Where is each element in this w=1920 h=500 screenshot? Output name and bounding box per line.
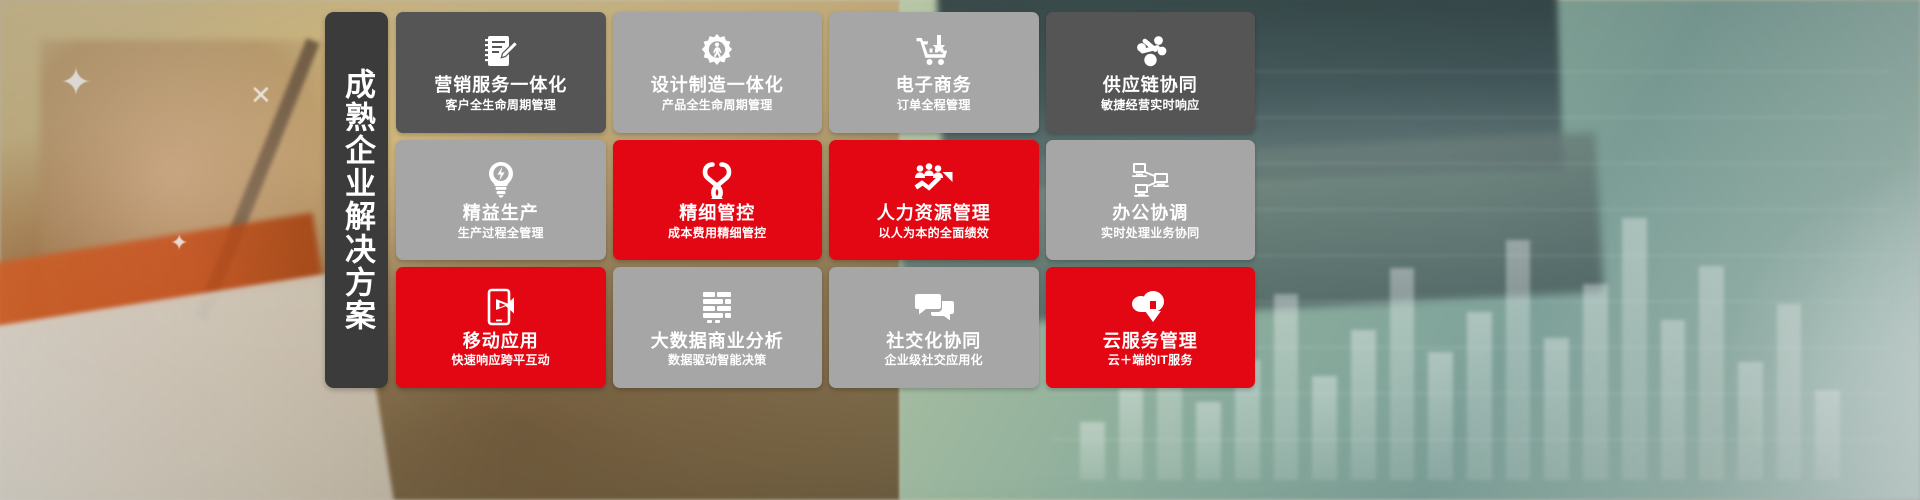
card-title: 办公协调 bbox=[1112, 204, 1188, 224]
card-title: 人力资源管理 bbox=[877, 204, 991, 224]
shopping-cart-download-icon bbox=[915, 30, 953, 72]
card-subtitle: 订单全程管理 bbox=[897, 99, 971, 112]
card-fine-control[interactable]: 精细管控成本费用精细管控 bbox=[613, 140, 823, 261]
card-big-data-business-analytics[interactable]: 大数据商业分析数据驱动智能决策 bbox=[613, 267, 823, 388]
card-subtitle: 以人为本的全面绩效 bbox=[878, 227, 989, 240]
card-title: 营销服务一体化 bbox=[434, 76, 567, 96]
page-title: 成熟企业解决方案 bbox=[338, 68, 375, 332]
chain-link-icon bbox=[700, 158, 734, 200]
card-title: 云服务管理 bbox=[1103, 332, 1198, 352]
chat-bubbles-icon bbox=[914, 286, 954, 328]
people-growth-arrow-icon bbox=[913, 158, 955, 200]
card-subtitle: 成本费用精细管控 bbox=[668, 227, 766, 240]
network-nodes-icon bbox=[1131, 30, 1169, 72]
card-subtitle: 客户全生命周期管理 bbox=[445, 99, 556, 112]
card-title: 大数据商业分析 bbox=[651, 332, 784, 352]
card-lean-production[interactable]: 精益生产生产过程全管理 bbox=[396, 140, 606, 261]
card-subtitle: 快速响应跨平互动 bbox=[452, 354, 550, 367]
gear-person-icon bbox=[699, 30, 735, 72]
card-mobile-application[interactable]: 移动应用快速响应跨平互动 bbox=[396, 267, 606, 388]
card-subtitle: 生产过程全管理 bbox=[458, 227, 544, 240]
card-title: 设计制造一体化 bbox=[651, 76, 784, 96]
card-title: 移动应用 bbox=[463, 332, 539, 352]
card-supply-chain-collaboration[interactable]: 供应链协同敏捷经营实时响应 bbox=[1046, 12, 1256, 133]
server-database-icon bbox=[701, 286, 733, 328]
card-design-manufacturing-integration[interactable]: 设计制造一体化产品全生命周期管理 bbox=[613, 12, 823, 133]
card-title: 精益生产 bbox=[463, 204, 539, 224]
cloud-download-icon bbox=[1131, 286, 1169, 328]
card-subtitle: 企业级社交应用化 bbox=[885, 354, 983, 367]
card-title: 电子商务 bbox=[896, 76, 972, 96]
card-social-collaboration[interactable]: 社交化协同企业级社交应用化 bbox=[829, 267, 1039, 388]
solution-panel: 成熟企业解决方案 营销服务一体化客户全生命周期管理设计制造一体化产品全生命周期管… bbox=[325, 12, 1255, 388]
card-marketing-service-integration[interactable]: 营销服务一体化客户全生命周期管理 bbox=[396, 12, 606, 133]
card-subtitle: 云＋端的IT服务 bbox=[1108, 354, 1193, 367]
networked-computers-icon bbox=[1130, 158, 1170, 200]
lightbulb-bolt-icon bbox=[484, 158, 518, 200]
solution-card-grid: 营销服务一体化客户全生命周期管理设计制造一体化产品全生命周期管理电子商务订单全程… bbox=[396, 12, 1255, 388]
card-title: 精细管控 bbox=[679, 204, 755, 224]
card-cloud-service-management[interactable]: 云服务管理云＋端的IT服务 bbox=[1046, 267, 1256, 388]
vertical-title-block: 成熟企业解决方案 bbox=[325, 12, 388, 388]
card-subtitle: 产品全生命周期管理 bbox=[662, 99, 773, 112]
card-ecommerce[interactable]: 电子商务订单全程管理 bbox=[829, 12, 1039, 133]
card-subtitle: 数据驱动智能决策 bbox=[668, 354, 766, 367]
card-office-coordination[interactable]: 办公协调实时处理业务协同 bbox=[1046, 140, 1256, 261]
card-title: 社交化协同 bbox=[886, 332, 981, 352]
card-subtitle: 实时处理业务协同 bbox=[1101, 227, 1199, 240]
notepad-pencil-icon bbox=[484, 30, 518, 72]
mobile-phone-signal-icon bbox=[484, 286, 518, 328]
card-human-resource-management[interactable]: 人力资源管理以人为本的全面绩效 bbox=[829, 140, 1039, 261]
card-subtitle: 敏捷经营实时响应 bbox=[1101, 99, 1199, 112]
card-title: 供应链协同 bbox=[1103, 76, 1198, 96]
